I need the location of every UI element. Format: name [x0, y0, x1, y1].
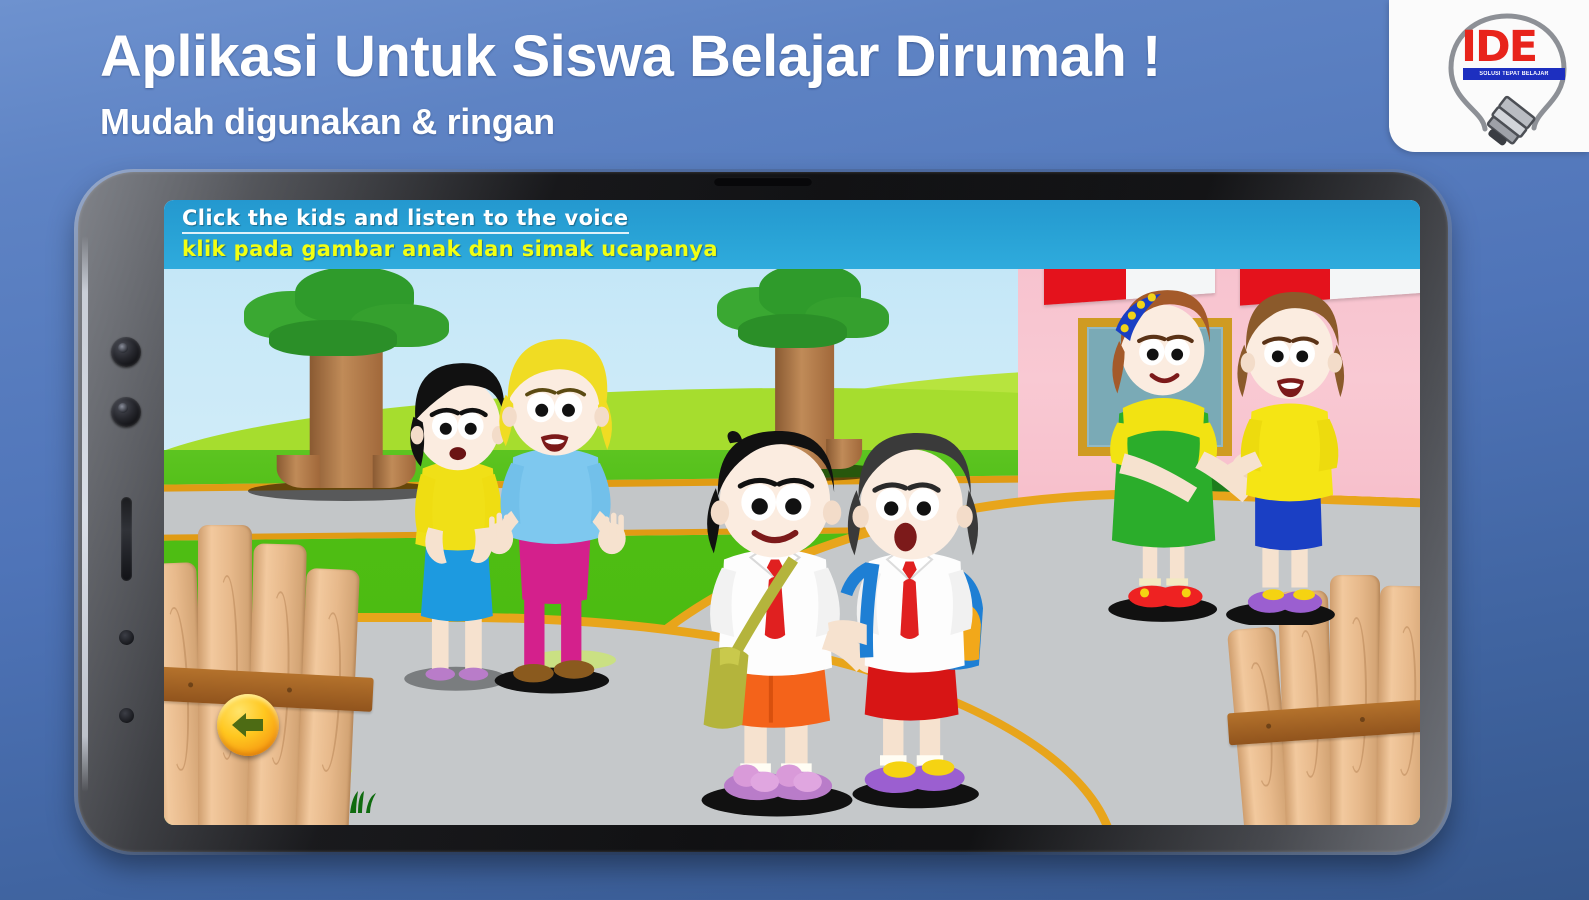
phone-device-frame: Click the kids and listen to the voice k…	[78, 172, 1448, 852]
arrow-left-icon	[230, 710, 266, 740]
instruction-text-id: klik pada gambar anak dan simak ucapanya	[182, 237, 1420, 261]
page-title: Aplikasi Untuk Siswa Belajar Dirumah !	[100, 26, 1161, 89]
character-group-front[interactable]	[679, 431, 1006, 819]
kid-schoolboy-red-shorts-backpack	[828, 433, 983, 793]
brand-tagline-bar: SOLUSI TEPAT BELAJAR	[1463, 68, 1565, 80]
instruction-banner: Click the kids and listen to the voice k…	[164, 200, 1420, 269]
tree-canopy	[717, 263, 893, 358]
camera-lens-icon	[111, 397, 141, 427]
kid-blonde-blue-shirt	[485, 339, 625, 682]
speaker-grill-icon	[121, 497, 132, 581]
headline-block: Aplikasi Untuk Siswa Belajar Dirumah ! M…	[100, 26, 1161, 143]
speaker-slot-icon	[714, 177, 812, 186]
brand-name: IDE	[1461, 26, 1536, 69]
instruction-text-en: Click the kids and listen to the voice	[182, 206, 629, 234]
brand-logo-card: IDE SOLUSI TEPAT BELAJAR	[1389, 0, 1589, 152]
character-group-right[interactable]	[1087, 263, 1351, 626]
page-subtitle: Mudah digunakan & ringan	[100, 101, 1161, 143]
brand-tagline: SOLUSI TEPAT BELAJAR	[1468, 68, 1560, 80]
grass-tuft-icon	[346, 787, 386, 813]
phone-side-rail	[82, 236, 88, 792]
fence-left	[164, 525, 365, 825]
sensor-dot-icon	[119, 708, 134, 723]
promo-banner: Aplikasi Untuk Siswa Belajar Dirumah ! M…	[0, 0, 1589, 900]
tree-leaf	[738, 314, 847, 348]
sensor-dot-icon	[119, 630, 134, 645]
kid-boy-yellow-shirt-blue-shorts	[1221, 291, 1344, 612]
character-group-left[interactable]	[365, 306, 654, 694]
app-screen[interactable]: Click the kids and listen to the voice k…	[164, 200, 1420, 825]
back-button[interactable]	[217, 694, 279, 756]
kid-girl-green-dress	[1110, 290, 1253, 607]
camera-lens-icon	[111, 337, 141, 367]
